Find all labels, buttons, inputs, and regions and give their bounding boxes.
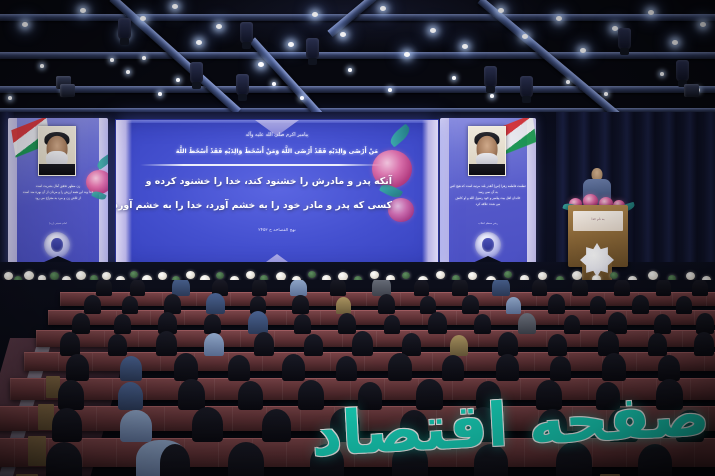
audience-member [206, 293, 225, 314]
audience-member [608, 408, 638, 442]
audience-member [654, 314, 671, 334]
audience-member [536, 380, 562, 410]
audience-member [84, 295, 101, 314]
audience-member [452, 280, 468, 296]
audience-member [120, 410, 152, 442]
audience-member [658, 355, 680, 381]
audience-member [72, 313, 90, 334]
audience-member [120, 356, 142, 381]
audience-member [548, 334, 567, 356]
audience-member [696, 313, 714, 334]
audience-member [656, 379, 683, 410]
audience-member [248, 311, 268, 334]
audience-member [330, 280, 346, 296]
spotlight-fixture [118, 18, 131, 40]
podium-plaque-text: به نام خدا [573, 217, 623, 221]
audience-member [228, 442, 264, 476]
screen-persian-line-2: کسی که پدر و مادر خود را به خشم آورد، خد… [132, 200, 392, 211]
spotlight-fixture [684, 84, 699, 97]
audience-member [474, 444, 508, 476]
audience-member [518, 313, 536, 334]
truss-beam [0, 52, 715, 59]
audience-member [304, 334, 323, 356]
spotlight-fixture [484, 66, 497, 88]
audience-member [420, 296, 436, 314]
audience-member [292, 295, 309, 314]
audience-member [632, 295, 649, 314]
audience-member [656, 280, 671, 296]
spotlight-fixture [190, 62, 203, 84]
police-emblem-icon [475, 232, 501, 258]
screen-right-border [422, 120, 438, 270]
audience-member [108, 334, 127, 356]
audience-member [204, 333, 224, 356]
portrait-khamenei [468, 126, 506, 176]
auditorium-seating [0, 280, 715, 476]
audience-member [122, 296, 138, 314]
audience-member [476, 381, 501, 410]
audience-member [310, 444, 344, 476]
audience-member [548, 294, 565, 314]
portrait-khomeini [38, 126, 76, 176]
audience-member [174, 353, 198, 381]
audience-member [474, 314, 491, 334]
audience-member [596, 382, 620, 410]
audience-member [282, 354, 305, 381]
audience-member [204, 314, 221, 334]
audience-member [614, 280, 630, 296]
audience-member [228, 355, 250, 381]
left-standee-banner: زن مظهر تحقق آمال بشریت است خدا وند این … [8, 118, 108, 268]
screen-left-border [116, 120, 132, 270]
spotlight-fixture [676, 60, 689, 82]
audience-member [428, 312, 447, 334]
audience-member [414, 280, 429, 296]
audience-member [52, 408, 82, 442]
audience-member [238, 381, 263, 410]
audience-member [602, 353, 626, 381]
left-banner-source: امام خمینی (ره) [8, 222, 108, 225]
audience-member [290, 280, 307, 296]
spotlight-fixture [60, 84, 75, 97]
audience-member [358, 382, 382, 410]
audience-member [46, 442, 82, 476]
audience-member [164, 294, 181, 314]
audience-member [402, 333, 421, 356]
audience-member [538, 409, 567, 442]
audience-member [388, 353, 412, 381]
audience-member [378, 294, 395, 314]
audience-member [498, 332, 518, 356]
audience-member [60, 332, 80, 356]
audience-member [450, 335, 468, 356]
audience-member [532, 280, 547, 296]
audience-member [160, 444, 190, 476]
audience-member [694, 332, 714, 356]
audience-member [352, 331, 373, 356]
spotlight-fixture [306, 38, 319, 60]
audience-member [114, 314, 131, 334]
audience-member [130, 280, 145, 296]
audience-member [506, 297, 521, 314]
audience-member [330, 408, 360, 442]
photograph-auditorium-ceremony: زن مظهر تحقق آمال بشریت است خدا وند این … [0, 0, 715, 476]
audience-member [556, 442, 592, 476]
audience-member [676, 410, 704, 442]
audience-member [192, 407, 223, 442]
main-projection-screen: پیامبر اکرم صلی الله علیه وآله مَنْ أَرْ… [115, 119, 439, 271]
audience-member [416, 379, 443, 410]
audience-member [252, 280, 267, 296]
spotlight-fixture [618, 28, 631, 50]
audience-member [262, 409, 291, 442]
audience-member [442, 355, 464, 381]
screen-divider-rule [140, 164, 382, 166]
screen-source-reference: نهج الفصاحه ح ۲۴۵۳ [116, 228, 438, 233]
audience-member [96, 280, 112, 296]
audience-member [638, 444, 672, 476]
audience-member [496, 354, 519, 381]
audience-member [492, 280, 510, 296]
audience-member [648, 333, 667, 356]
audience-member [590, 296, 606, 314]
audience-member [156, 331, 177, 356]
audience-member [384, 315, 400, 334]
audience-member [298, 380, 324, 410]
audience-member [572, 280, 588, 296]
right-banner-line-3: نبی شده علاقه کرد [450, 202, 527, 208]
seat-row [0, 438, 715, 467]
audience-member [338, 313, 356, 334]
audience-member [336, 356, 357, 381]
audience-member [462, 295, 479, 314]
audience-member [294, 314, 311, 334]
audience-member [400, 410, 428, 442]
audience-member [564, 315, 580, 334]
spotlight-fixture [520, 76, 533, 98]
audience-member [118, 382, 143, 410]
audience-member [392, 442, 428, 476]
spotlight-fixture [236, 74, 249, 96]
audience-member [336, 297, 351, 314]
audience-member [692, 280, 708, 296]
audience-member [178, 379, 205, 410]
right-banner-line-1: عظمت فاطمه زهرا (س) آنقدر بلند مرتبه است… [450, 184, 527, 196]
left-banner-line-3: از تلاش زن و مرد به معراج می رود [18, 196, 98, 202]
spotlight-fixture [240, 22, 253, 44]
ceiling-lighting-rig [0, 0, 715, 118]
seat-armrest [28, 436, 46, 466]
audience-member [676, 296, 692, 314]
podium-plaque: به نام خدا [573, 211, 623, 231]
right-banner-source: رهبر معظم انقلاب [440, 222, 536, 225]
audience-member [254, 332, 274, 356]
screen-prophet-attribution: پیامبر اکرم صلی الله علیه وآله [116, 132, 438, 138]
audience-member [66, 354, 89, 381]
right-banner-line-2: خاندان اهل بیت پیامبر و خود رسول الله و … [450, 196, 527, 202]
audience-member [58, 380, 84, 410]
screen-arabic-hadith: مَنْ أَرْضَى وَالِدَیْهِ فَقَدْ أَرْضَى … [116, 148, 438, 155]
right-standee-banner: عظمت فاطمه زهرا (س) آنقدر بلند مرتبه است… [440, 118, 536, 268]
left-banner-line-2: خدا وند این همه ارزش را و مردان از آن به… [18, 190, 98, 196]
audience-member [468, 407, 499, 442]
audience-member [550, 356, 571, 381]
screen-persian-line-1: آنکه پدر و مادرش را خشنود کند، خدا را خش… [132, 176, 392, 187]
police-emblem-icon [44, 232, 70, 258]
